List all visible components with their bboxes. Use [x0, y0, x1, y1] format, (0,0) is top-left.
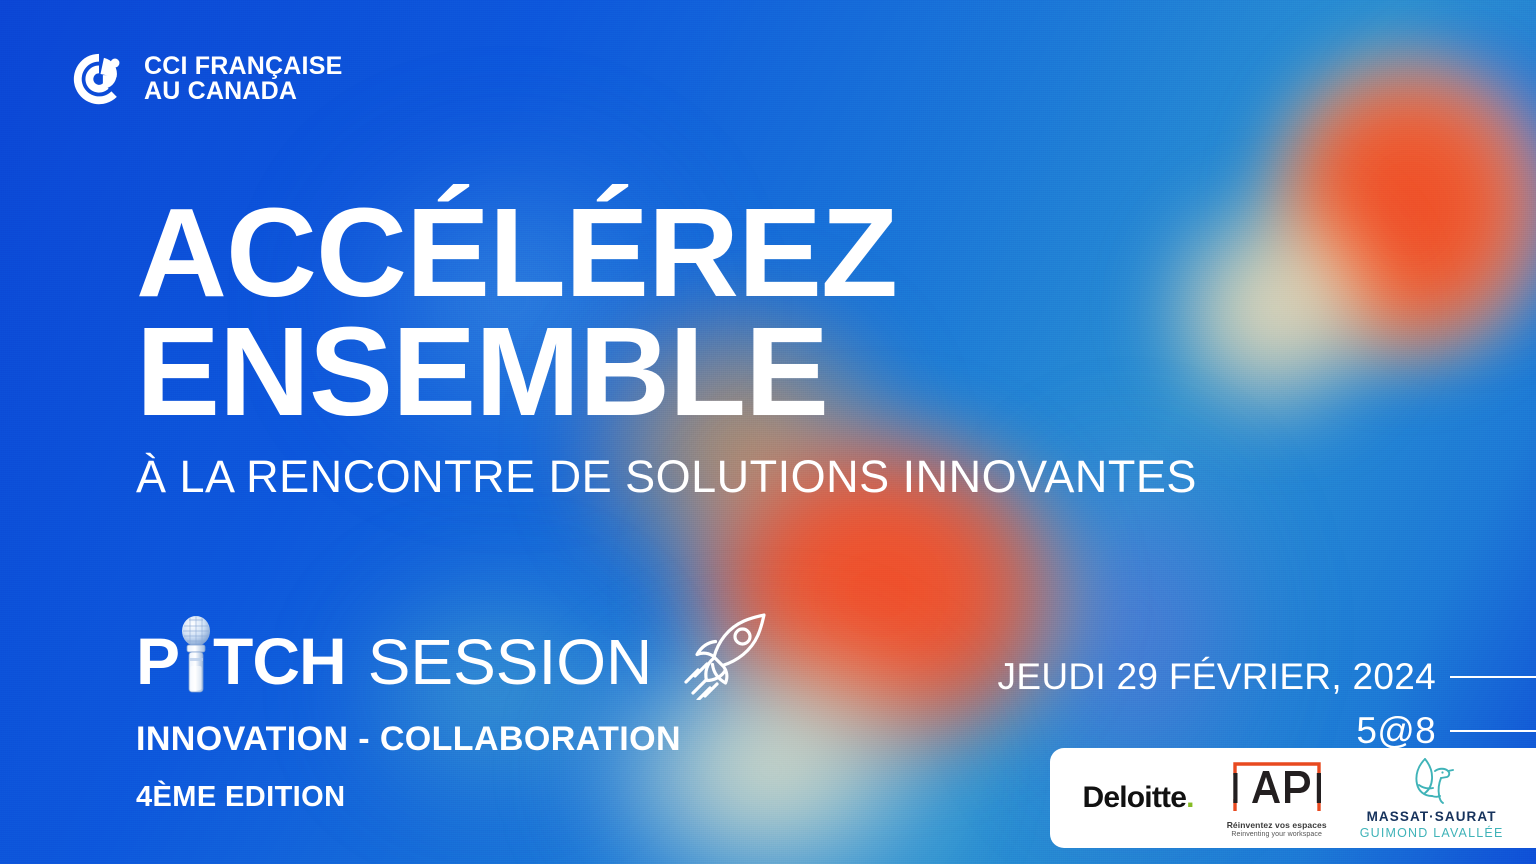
sponsor-deloitte: Deloitte.: [1083, 783, 1194, 813]
cci-circular-logo-icon: [68, 48, 130, 110]
api-tagline-fr: Réinventez vos espaces: [1227, 820, 1327, 830]
pitch-session-block: P: [136, 608, 772, 814]
time-rule-line: [1450, 730, 1536, 732]
pitch-edition-line: 4ÈME EDITION: [136, 781, 772, 814]
massat-saurat-sub: GUIMOND LAVALLÉE: [1360, 826, 1504, 840]
cci-brand-line-1: CCI FRANÇAISE: [144, 54, 342, 80]
pitch-word: P: [136, 628, 346, 694]
deloitte-dot: .: [1186, 781, 1194, 814]
schedule-block: JEUDI 29 FÉVRIER, 2024 5@8: [998, 656, 1536, 752]
pitch-session-title-row: P: [136, 608, 772, 694]
headline-line-2: ENSEMBLE: [136, 315, 1197, 428]
cci-brand-line-2: AU CANADA: [144, 79, 342, 105]
event-date: JEUDI 29 FÉVRIER, 2024: [998, 656, 1436, 698]
pitch-theme-line: INNOVATION - COLLABORATION: [136, 720, 772, 759]
pitch-letters-tch: TCH: [213, 628, 346, 694]
headline-subtitle: À LA RENCONTRE DE SOLUTIONS INNOVANTES: [136, 451, 1197, 503]
microphone-icon: [179, 628, 213, 694]
deloitte-wordmark: Deloitte: [1083, 781, 1187, 814]
session-word: SESSION: [368, 630, 653, 694]
event-date-row: JEUDI 29 FÉVRIER, 2024: [998, 656, 1536, 698]
event-time: 5@8: [1356, 710, 1436, 752]
api-tagline-en: Reinventing your workspace: [1231, 831, 1322, 838]
cci-brand-lockup: CCI FRANÇAISE AU CANADA: [68, 48, 342, 110]
event-time-row: 5@8: [998, 710, 1536, 752]
massat-saurat-name: MASSAT·SAURAT: [1367, 809, 1497, 824]
deloitte-logo: Deloitte.: [1083, 783, 1194, 813]
sponsor-massat-saurat: MASSAT·SAURAT GUIMOND LAVALLÉE: [1360, 757, 1504, 840]
date-rule-line: [1450, 676, 1536, 678]
headline-block: ACCÉLÉREZ ENSEMBLE À LA RENCONTRE DE SOL…: [136, 196, 1197, 503]
event-poster: CCI FRANÇAISE AU CANADA ACCÉLÉREZ ENSEMB…: [0, 0, 1536, 864]
sponsor-bar: Deloitte.: [1050, 748, 1536, 848]
rocket-icon: [676, 608, 772, 700]
api-bracket-logo-icon: [1229, 759, 1325, 817]
pitch-letter-p: P: [136, 628, 179, 694]
cci-brand-text: CCI FRANÇAISE AU CANADA: [144, 54, 342, 105]
headline-line-1: ACCÉLÉREZ: [136, 196, 1197, 309]
sponsor-api: Réinventez vos espaces Reinventing your …: [1227, 759, 1327, 838]
dove-bird-icon: [1405, 757, 1459, 805]
